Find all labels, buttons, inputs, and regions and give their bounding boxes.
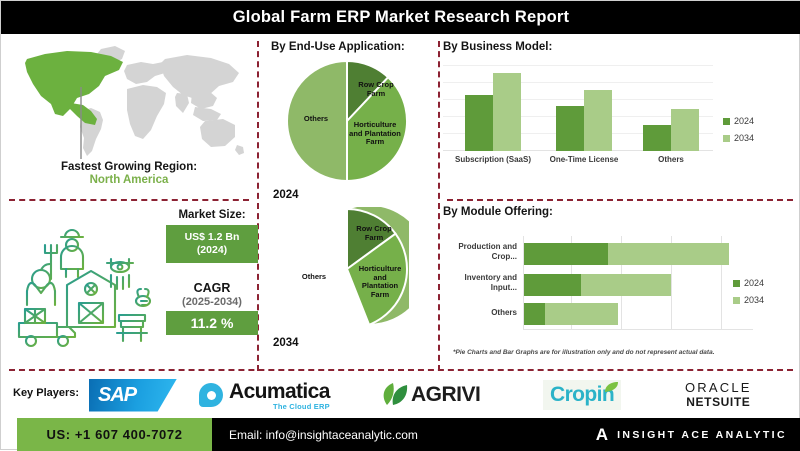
category-label-production-and-crop: Production and Crop... [443,242,517,262]
category-label-subscription: Subscription (SaaS) [443,155,543,164]
cagr-value: 11.2 % [166,311,258,335]
world-map-icon [9,41,249,163]
bar-2034-subscription [493,73,521,151]
agrivi-logo-text: AGRIVI [411,383,480,407]
category-label-others: Others [443,308,517,318]
key-player-acumatica[interactable]: Acumatica The Cloud ERP [199,375,330,415]
key-player-cropin[interactable]: Cropin [543,375,621,415]
oracle-logo-text: ORACLE [685,381,752,396]
bar-2024-one-time-license [556,106,584,151]
page-footer: Email: info@insightaceanalytic.com A INS… [1,418,800,451]
market-stats: Market Size: US$ 1.2 Bn (2024) CAGR (202… [166,209,258,335]
bar-2034-production-and-crop [608,243,729,265]
chart-disclaimer: *Pie Charts and Bar Graphs are for illus… [453,349,793,356]
module-offering-legend: 2024 2034 [733,278,764,312]
acumatica-tagline: The Cloud ERP [229,402,330,411]
legend-item-2024: 2024 [723,116,754,126]
pie-year-2034: 2034 [263,337,435,349]
page-title: Global Farm ERP Market Research Report [233,8,570,27]
key-player-oracle-netsuite[interactable]: ORACLE NETSUITE [685,375,752,415]
bar-2034-one-time-license [584,90,612,151]
bar-2034-inventory-and-input [581,274,671,296]
footer-black-bar: Email: info@insightaceanalytic.com A INS… [212,418,800,451]
bar-2034-others [545,303,618,325]
legend-label-2034: 2034 [744,295,764,305]
legend-item-2034: 2034 [733,295,764,305]
cagr-label: CAGR [166,281,258,295]
netsuite-logo-text: NETSUITE [686,396,750,410]
footer-brand-name: INSIGHT ACE ANALYTIC [617,429,787,441]
legend-swatch-2024 [723,118,730,125]
legend-label-2024: 2024 [734,116,754,126]
end-use-application-title: By End-Use Application: [263,41,435,53]
farm-illustration-icon [11,223,161,351]
category-label-one-time-license: One-Time License [534,155,634,164]
bar-2024-inventory-and-input [524,274,581,296]
insight-ace-mark-icon: A [596,425,608,445]
legend-swatch-2034 [733,297,740,304]
fastest-growing-region: Fastest Growing Region: North America [9,161,249,186]
footer-green-bar: US: +1 607 400-7072 [17,418,212,451]
cropin-leaf-icon [603,381,619,393]
business-model-legend: 2024 2034 [723,116,754,150]
module-offering-chart: Production and Crop... Inventory and Inp… [443,236,753,330]
acumatica-mark-icon [199,383,223,407]
legend-label-2024: 2024 [744,278,764,288]
acumatica-logo-text: Acumatica [229,380,330,404]
legend-swatch-2024 [733,280,740,287]
market-size-label: Market Size: [166,209,258,221]
legend-item-2034: 2034 [723,133,754,143]
module-offering-title: By Module Offering: [443,206,795,218]
module-offering-section: By Module Offering: Production and Crop.… [443,206,795,366]
bar-2024-production-and-crop [524,243,608,265]
category-label-inventory-and-input: Inventory and Input... [443,273,517,293]
page-header: Global Farm ERP Market Research Report [1,1,800,34]
fastest-growing-region-value: North America [9,174,249,186]
key-players-label: Key Players: [13,387,79,399]
key-player-sap[interactable]: SAP [89,375,177,415]
gridline [443,82,713,83]
bar-2024-others [643,125,671,151]
category-label-others: Others [621,155,721,164]
market-size-value: US$ 1.2 Bn [168,231,256,244]
divider-horizontal-left [9,199,249,201]
legend-label-2034: 2034 [734,133,754,143]
pie-year-2024: 2024 [263,189,435,201]
bar-2024-others [524,303,545,325]
key-player-agrivi[interactable]: AGRIVI [379,375,480,415]
sap-logo: SAP [89,379,177,412]
footer-email[interactable]: Email: info@insightaceanalytic.com [229,428,418,442]
business-model-section: By Business Model: Subscription (SaaS) O… [443,41,795,193]
end-use-application-section: By End-Use Application: Others Row Crop … [263,41,435,371]
divider-vertical-right [438,41,440,371]
cagr-years: (2025-2034) [166,296,258,308]
key-players-row: Key Players: SAP Acumatica The Cloud ERP… [1,373,800,418]
pie-chart-2034: Others Row Crop Farm Horticulture and Pl… [285,207,409,331]
legend-swatch-2034 [723,135,730,142]
divider-horizontal-right [447,199,793,201]
market-size-year: (2024) [168,244,256,257]
north-america-highlight [25,51,123,125]
market-size-box: US$ 1.2 Bn (2024) [166,225,258,263]
pie-slice-others-2024 [287,61,347,181]
business-model-chart: Subscription (SaaS) One-Time License Oth… [443,65,713,151]
bar-2034-others [671,109,699,151]
footer-phone[interactable]: US: +1 607 400-7072 [46,427,182,442]
cropin-logo: Cropin [543,380,621,410]
legend-item-2024: 2024 [733,278,764,288]
bar-2024-subscription [465,95,493,151]
agrivi-leaf-icon [379,381,409,409]
pie-chart-2024: Others Row Crop Farm Horticulture and Pl… [285,59,409,183]
x-axis [523,329,753,330]
business-model-title: By Business Model: [443,41,795,53]
footer-brand: A INSIGHT ACE ANALYTIC [596,425,787,445]
sap-logo-text: SAP [89,384,136,407]
fastest-growing-region-label: Fastest Growing Region: [9,161,249,173]
world-map [9,41,249,163]
gridline [443,65,713,66]
farm-illustration [11,223,161,351]
